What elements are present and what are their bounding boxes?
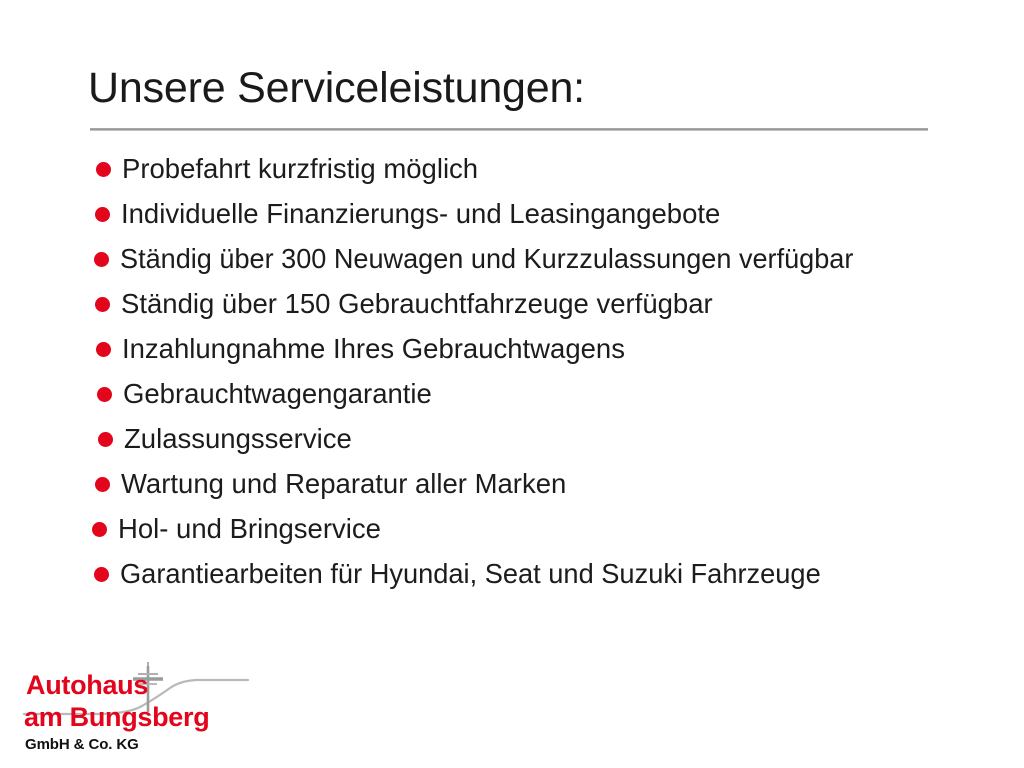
bullet-dot-icon: [92, 522, 107, 537]
bullet-dot-icon: [96, 342, 111, 357]
logo-line-1: Autohaus: [26, 670, 148, 700]
bullet-dot-icon: [95, 477, 110, 492]
bullet-dot-icon: [94, 252, 109, 267]
logo-legal-form: GmbH & Co. KG: [25, 736, 139, 753]
list-item-label: Ständig über 150 Gebrauchtfahrzeuge verf…: [121, 281, 713, 326]
bullet-dot-icon: [95, 207, 110, 222]
list-item-label: Zulassungsservice: [124, 416, 352, 461]
list-item: Wartung und Reparatur aller Marken: [95, 461, 1024, 506]
list-item-label: Wartung und Reparatur aller Marken: [121, 461, 566, 506]
list-item-label: Gebrauchtwagengarantie: [123, 371, 432, 416]
list-item: Ständig über 150 Gebrauchtfahrzeuge verf…: [95, 281, 1024, 326]
list-item: Probefahrt kurzfristig möglich: [96, 146, 1024, 191]
company-logo: Autohaus am Bungsberg GmbH & Co. KG: [20, 662, 260, 758]
bullet-dot-icon: [96, 162, 111, 177]
list-item: Garantiearbeiten für Hyundai, Seat und S…: [94, 551, 1024, 596]
list-item-label: Garantiearbeiten für Hyundai, Seat und S…: [120, 551, 821, 596]
page-title: Unsere Serviceleistungen:: [88, 64, 933, 112]
list-item-label: Hol- und Bringservice: [118, 506, 381, 551]
title-divider: [90, 128, 928, 131]
bullet-dot-icon: [95, 297, 110, 312]
list-item: Hol- und Bringservice: [92, 506, 1024, 551]
presentation-slide: Unsere Serviceleistungen: Probefahrt kur…: [0, 0, 1024, 768]
logo-line-2: am Bungsberg: [24, 702, 209, 732]
bullet-dot-icon: [98, 432, 113, 447]
list-item-label: Probefahrt kurzfristig möglich: [122, 146, 478, 191]
bullet-dot-icon: [97, 387, 112, 402]
list-item: Gebrauchtwagengarantie: [97, 371, 1024, 416]
list-item-label: Individuelle Finanzierungs- und Leasinga…: [121, 191, 720, 236]
list-item: Zulassungsservice: [98, 416, 1024, 461]
list-item: Inzahlungnahme Ihres Gebrauchtwagens: [96, 326, 1024, 371]
list-item-label: Inzahlungnahme Ihres Gebrauchtwagens: [122, 326, 625, 371]
list-item-label: Ständig über 300 Neuwagen und Kurzzulass…: [120, 236, 853, 281]
services-bullet-list: Probefahrt kurzfristig möglich Individue…: [0, 146, 1024, 596]
bullet-dot-icon: [94, 567, 109, 582]
list-item: Individuelle Finanzierungs- und Leasinga…: [95, 191, 1024, 236]
list-item: Ständig über 300 Neuwagen und Kurzzulass…: [94, 236, 1024, 281]
